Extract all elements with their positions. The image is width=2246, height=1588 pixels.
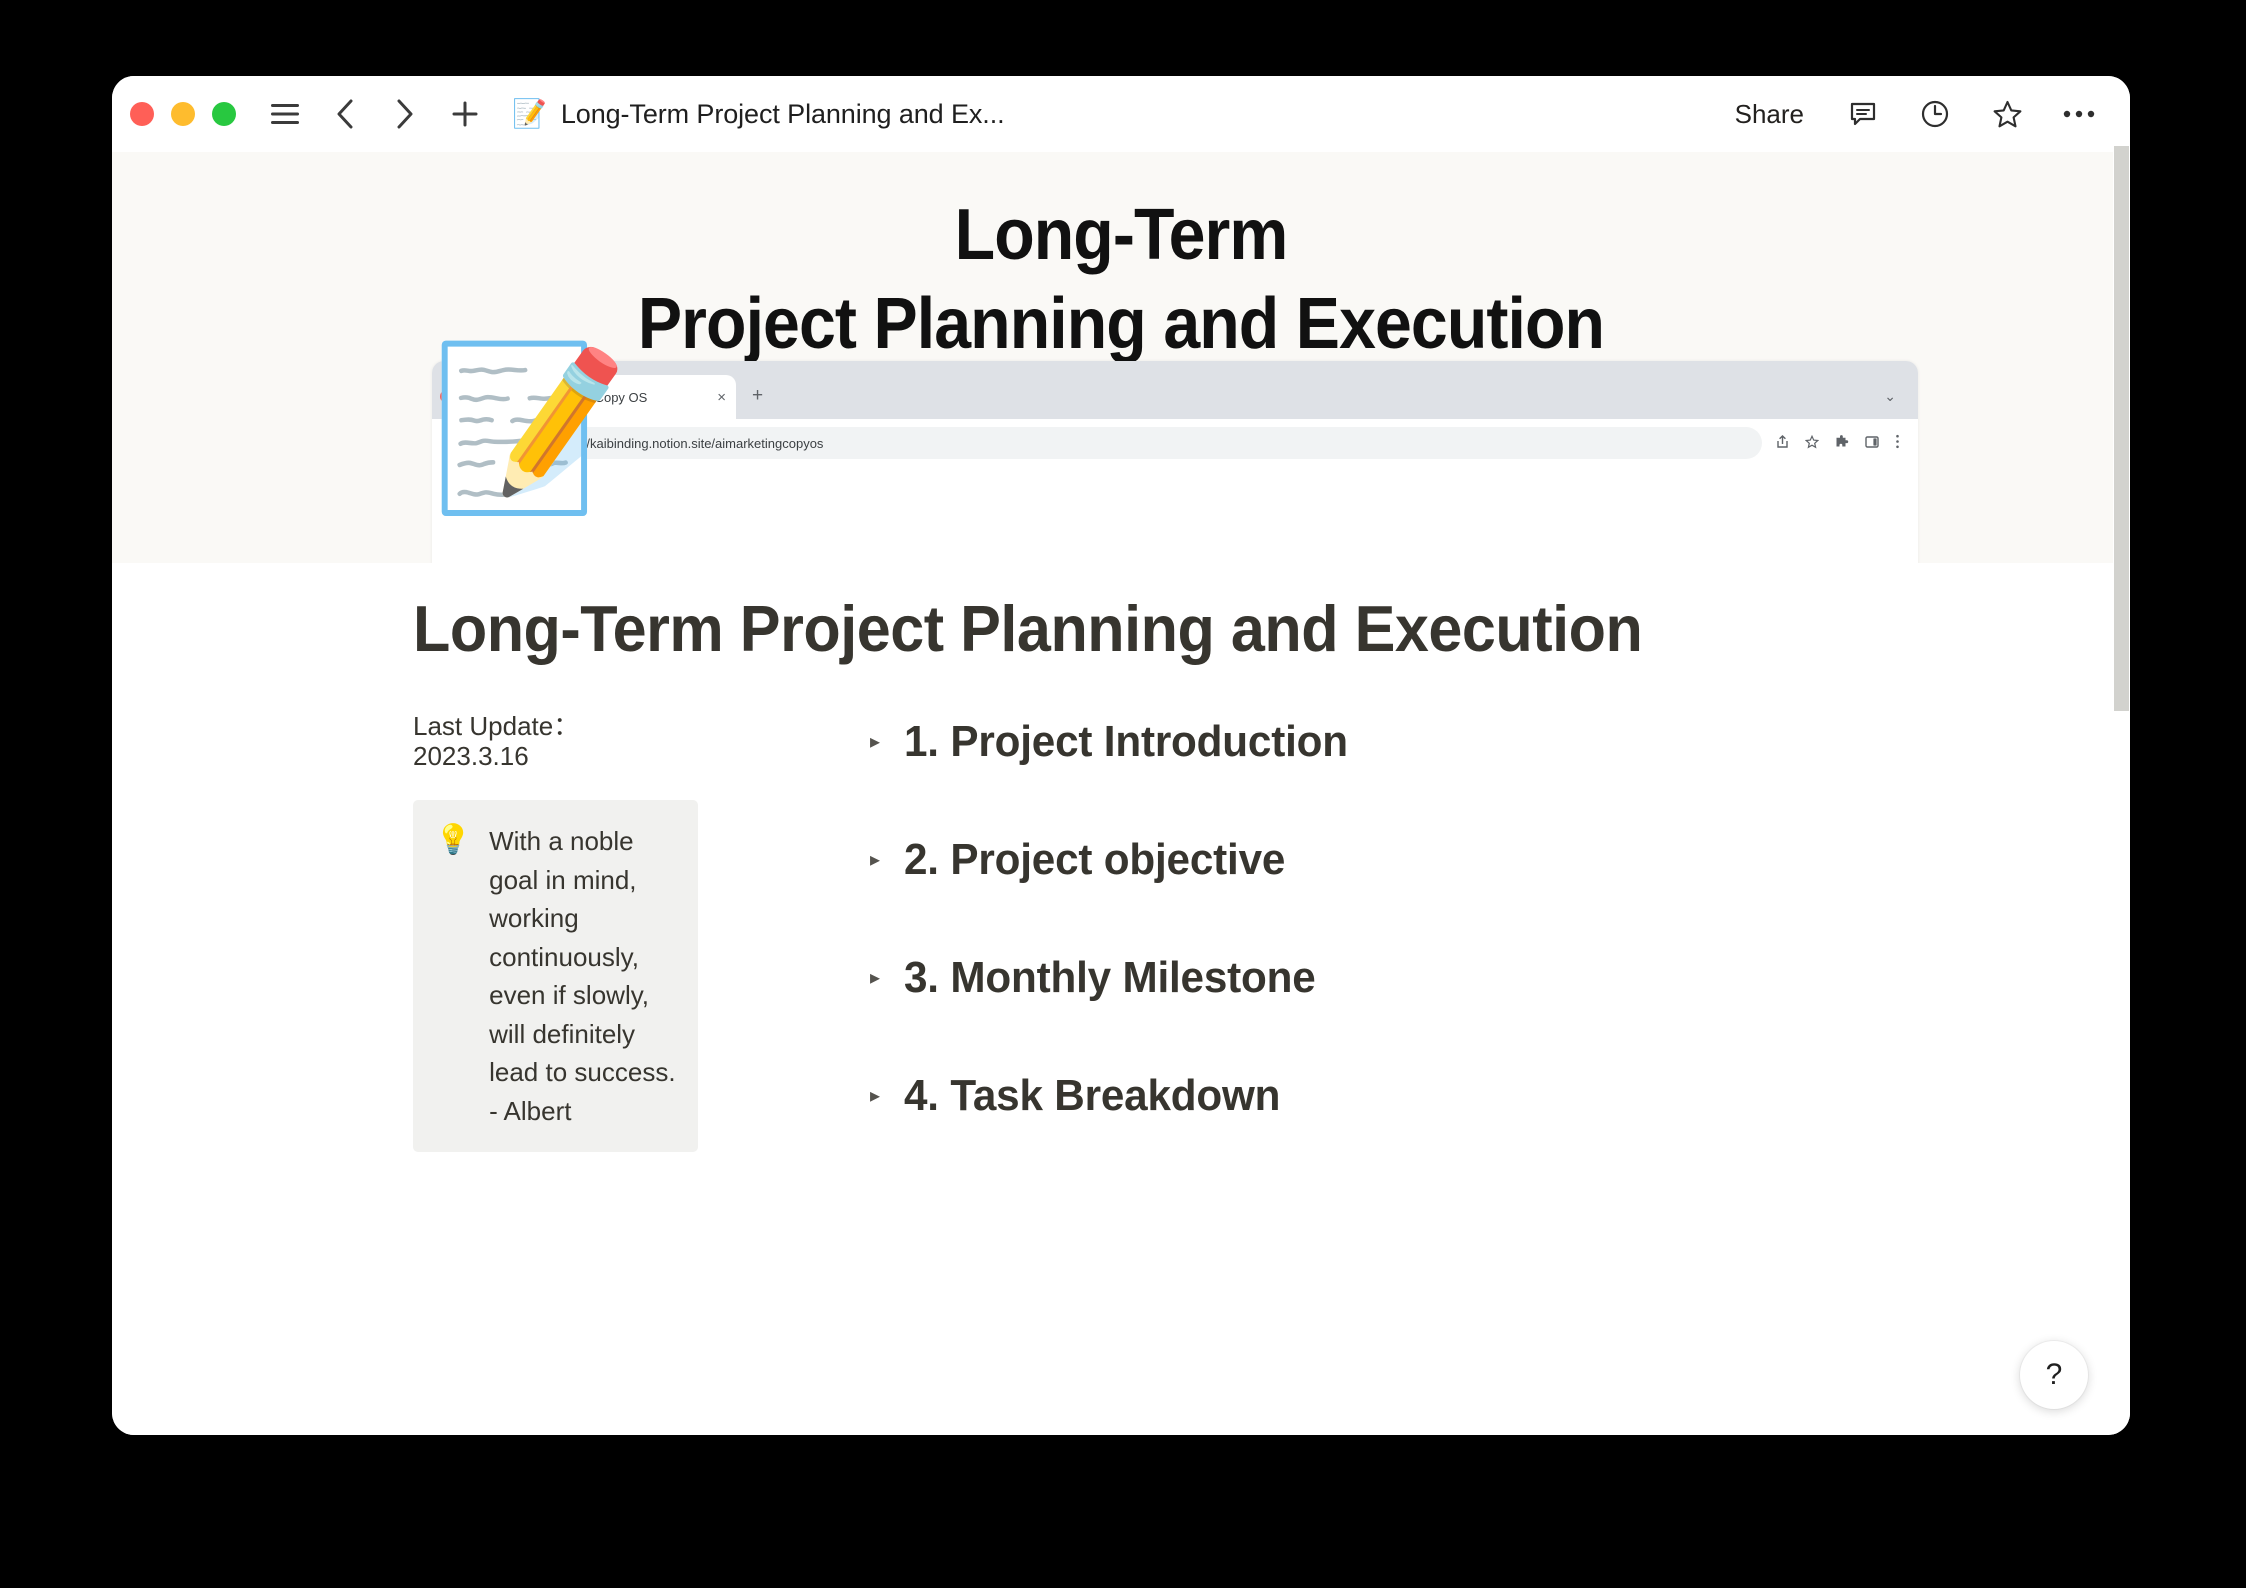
maximize-window-button[interactable] [212,102,236,126]
toggle-label: 3. Monthly Milestone [904,953,1316,1003]
lightbulb-icon: 💡 [435,822,471,1130]
browser-viewport [432,467,1918,563]
comment-icon[interactable] [1840,91,1886,137]
right-column: ▸ 1. Project Introduction ▸ 2. Project o… [698,711,2070,1189]
last-update-value: 2023.3.16 [413,741,698,771]
browser-url-bar: → ⟳ https://kaibinding.notion.site/aimar… [432,419,1918,467]
last-update-block: Last Update： 2023.3.16 [413,711,698,771]
screen: 📝 Long-Term Project Planning and Ex... S… [0,0,2246,1588]
page-columns: Last Update： 2023.3.16 💡 With a noble go… [413,711,2070,1189]
browser-tabstrip-chevron-icon: ⌄ [1884,388,1896,405]
document-title-text: Long-Term Project Planning and Ex... [561,99,1005,130]
chevron-right-icon[interactable]: ▸ [866,968,884,988]
callout-block[interactable]: 💡 With a noble goal in mind, working con… [413,800,698,1152]
memo-icon: 📝 [512,100,547,128]
star-icon[interactable] [1984,91,2030,137]
callout-text: With a noble goal in mind, working conti… [489,822,678,1130]
toggle-item-task-breakdown[interactable]: ▸ 4. Task Breakdown [866,1071,2070,1121]
share-button[interactable]: Share [1725,93,1814,136]
browser-share-icon [1776,435,1789,452]
browser-address-field: https://kaibinding.notion.site/aimarketi… [518,427,1762,459]
plus-icon[interactable] [442,91,488,137]
browser-toolbar-icons [1776,434,1904,452]
browser-extensions-icon [1835,435,1849,452]
cover-title-line-1: Long-Term [193,196,2050,275]
chevron-right-icon[interactable]: ▸ [866,850,884,870]
minimize-window-button[interactable] [171,102,195,126]
browser-kebab-menu-icon [1895,434,1900,452]
browser-side-panel-icon [1865,435,1879,452]
browser-screenshot-mock: AI Marketing Copy OS × + ⌄ → ⟳ [432,361,1918,563]
page-title[interactable]: Long-Term Project Planning and Execution [413,591,1642,666]
close-window-button[interactable] [130,102,154,126]
app-window: 📝 Long-Term Project Planning and Ex... S… [112,76,2130,1435]
title-bar: 📝 Long-Term Project Planning and Ex... S… [112,76,2130,152]
traffic-lights [130,102,236,126]
navigation-icons [262,91,488,137]
toggle-item-monthly-milestone[interactable]: ▸ 3. Monthly Milestone [866,953,2070,1003]
page-icon-memo-icon[interactable]: 📝 [430,348,629,508]
browser-tab-close-icon: × [717,389,726,406]
chevron-right-icon[interactable] [382,91,428,137]
chevron-left-icon[interactable] [322,91,368,137]
help-button[interactable]: ? [2020,1341,2088,1409]
toggle-label: 1. Project Introduction [904,717,1348,767]
toggle-item-project-introduction[interactable]: ▸ 1. Project Introduction [866,717,2070,767]
clock-history-icon[interactable] [1912,91,1958,137]
toggle-label: 4. Task Breakdown [904,1071,1280,1121]
last-update-label: Last Update： [413,711,698,741]
browser-bookmark-star-icon [1805,435,1819,452]
browser-new-tab-icon: + [752,385,763,407]
chevron-right-icon[interactable]: ▸ [866,732,884,752]
titlebar-actions: Share [1725,76,2102,152]
toggle-item-project-objective[interactable]: ▸ 2. Project objective [866,835,2070,885]
document-title[interactable]: 📝 Long-Term Project Planning and Ex... [512,99,1005,130]
chevron-right-icon[interactable]: ▸ [866,1086,884,1106]
scrollbar-thumb[interactable] [2114,146,2129,711]
page-scroll-area[interactable]: Long-Term Project Planning and Execution… [112,152,2130,1435]
hamburger-icon[interactable] [262,91,308,137]
ellipsis-icon[interactable] [2056,91,2102,137]
left-column: Last Update： 2023.3.16 💡 With a noble go… [413,711,698,1189]
page-cover-image[interactable]: Long-Term Project Planning and Execution… [112,152,2130,563]
browser-tabstrip: AI Marketing Copy OS × + ⌄ [432,361,1918,419]
toggle-label: 2. Project objective [904,835,1285,885]
cover-title: Long-Term Project Planning and Execution [112,196,2130,364]
